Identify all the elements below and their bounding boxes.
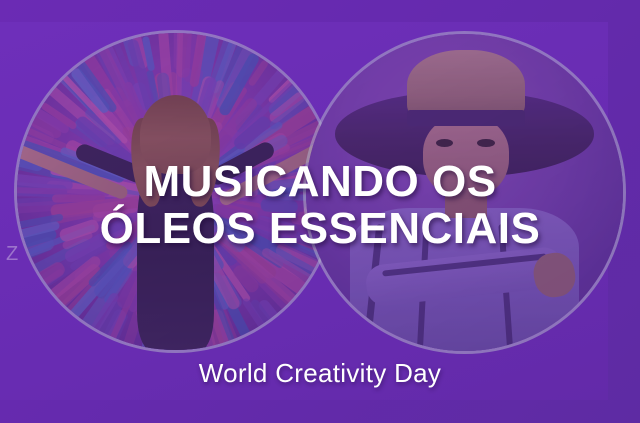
title-line-2: ÓLEOS ESSENCIAIS (0, 207, 640, 252)
title-line-1: MUSICANDO OS (0, 160, 640, 205)
watermark-letter: Z (6, 243, 19, 266)
poster-title: MUSICANDO OS ÓLEOS ESSENCIAIS (0, 160, 640, 252)
poster-canvas: MUSICANDO OS ÓLEOS ESSENCIAIS World Crea… (0, 0, 640, 423)
poster-subtitle: World Creativity Day (0, 358, 640, 389)
